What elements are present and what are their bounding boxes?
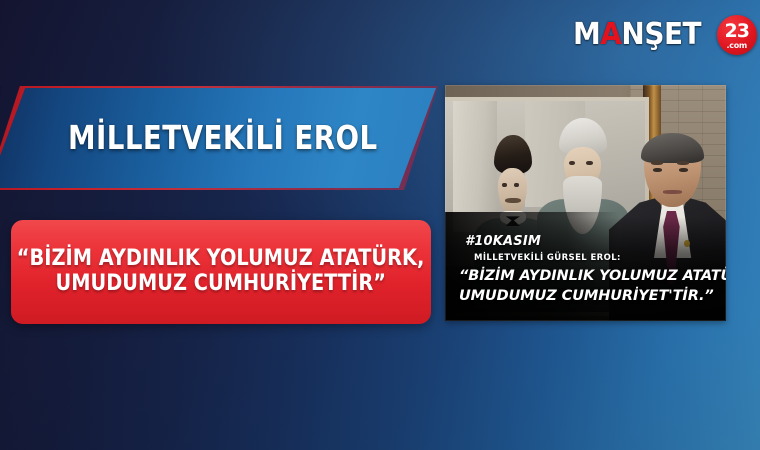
logo-badge-number: 23 xyxy=(725,22,749,41)
photo-quote-line-2: UMUDUMUZ CUMHURİYET'TİR.” xyxy=(459,288,714,304)
site-logo[interactable]: MANŞET 23 .com xyxy=(573,10,728,60)
headline-banner: MİLLETVEKİLİ EROL xyxy=(0,86,438,190)
logo-badge-suffix: .com xyxy=(727,42,747,50)
photo-quote-line-1: “BİZİM AYDINLIK YOLUMUZ ATATÜRK, xyxy=(459,268,726,284)
politician-eye-left xyxy=(653,168,662,172)
logo-accent-letter: A xyxy=(600,17,621,52)
news-thumbnail-card: MANŞET 23 .com MİLLETVEKİLİ EROL “BİZİM … xyxy=(0,0,760,450)
logo-word-part2: NŞET xyxy=(621,17,701,52)
politician-eye-right xyxy=(679,168,688,172)
photo-speaker-name: MİLLETVEKİLİ GÜRSEL EROL: xyxy=(474,253,621,263)
quote-box: “BİZİM AYDINLIK YOLUMUZ ATATÜRK, UMUDUMU… xyxy=(11,220,431,324)
news-photo[interactable]: #10KASIM MİLLETVEKİLİ GÜRSEL EROL: “BİZİ… xyxy=(445,85,726,321)
ataturk-mustache xyxy=(505,198,521,204)
quote-line-1: “BİZİM AYDINLIK YOLUMUZ ATATÜRK, xyxy=(17,247,425,272)
logo-word-part1: M xyxy=(573,17,600,52)
politician-mouth xyxy=(663,190,682,193)
logo-badge-circle: 23 .com xyxy=(717,15,757,55)
photo-content: #10KASIM MİLLETVEKİLİ GÜRSEL EROL: “BİZİ… xyxy=(445,85,726,321)
politician-eyebrow-right xyxy=(677,161,689,165)
politician-hair xyxy=(641,133,705,162)
photo-caption-scrim-left xyxy=(445,212,619,321)
politician-eyebrow-left xyxy=(651,161,663,165)
page-title: MİLLETVEKİLİ EROL xyxy=(0,86,438,190)
headline-text: MİLLETVEKİLİ EROL xyxy=(68,121,378,154)
elder-eye-right xyxy=(586,161,592,166)
photo-hashtag: #10KASIM xyxy=(465,234,541,249)
ataturk-face xyxy=(498,168,527,214)
logo-wordmark: MANŞET xyxy=(573,20,701,50)
quote-line-2: UMUDUMUZ CUMHURİYETTİR” xyxy=(56,272,386,297)
